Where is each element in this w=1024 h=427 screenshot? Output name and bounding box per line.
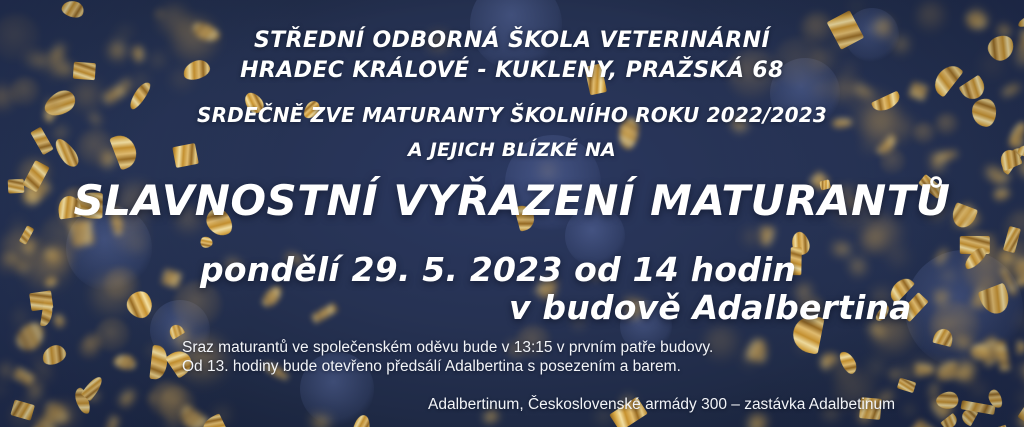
event-datetime: pondělí 29. 5. 2023 od 14 hodin — [200, 250, 796, 289]
event-title: SLAVNOSTNÍ VYŘAZENÍ MATURANTŮ — [0, 176, 1024, 225]
venue-address: Adalbertinum, Československé armády 300 … — [428, 396, 895, 414]
details-line-1: Sraz maturantů ve společenském oděvu bud… — [182, 338, 713, 357]
details-block: Sraz maturantů ve společenském oděvu bud… — [182, 338, 713, 376]
event-venue: v budově Adalbertina — [509, 288, 912, 327]
invitation-line-2: A JEJICH BLÍZKÉ NA — [0, 139, 1024, 161]
school-name-line-1: STŘEDNÍ ODBORNÁ ŠKOLA VETERINÁRNÍ — [0, 28, 1024, 53]
school-address-line: HRADEC KRÁLOVÉ - KUKLENY, PRAŽSKÁ 68 — [0, 58, 1024, 83]
invitation-line-1: SRDEČNĚ ZVE MATURANTY ŠKOLNÍHO ROKU 2022… — [0, 103, 1024, 127]
invitation-poster: STŘEDNÍ ODBORNÁ ŠKOLA VETERINÁRNÍ HRADEC… — [0, 0, 1024, 427]
details-line-2: Od 13. hodiny bude otevřeno předsálí Ada… — [182, 357, 713, 376]
poster-content: STŘEDNÍ ODBORNÁ ŠKOLA VETERINÁRNÍ HRADEC… — [0, 0, 1024, 427]
